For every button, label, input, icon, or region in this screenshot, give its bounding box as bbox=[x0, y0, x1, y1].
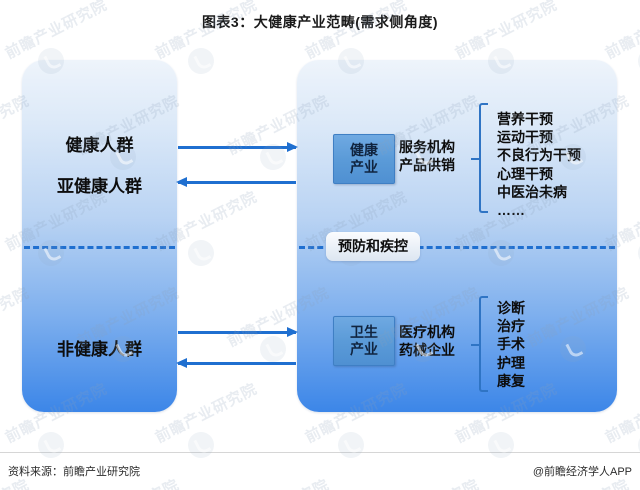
list-item: 康复 bbox=[497, 372, 525, 390]
list-item: 运动干预 bbox=[497, 128, 581, 146]
bracket-hygiene-items bbox=[471, 296, 489, 392]
arrow-left-bottom bbox=[178, 362, 296, 365]
arrow-left-top bbox=[178, 181, 296, 184]
hygiene-industry-descriptor: 医疗机构 药械企业 bbox=[399, 323, 455, 360]
watermark-logo-icon bbox=[256, 140, 291, 175]
footer-credit: @前瞻经济学人APP bbox=[533, 463, 632, 479]
group-label-healthy: 健康人群 bbox=[22, 131, 177, 156]
diagram-canvas: 图表3：大健康产业范畴(需求侧角度) 健康人群 亚健康人群 非健康人群 预防和疾… bbox=[0, 0, 640, 490]
hygiene-industry-box-line2: 产业 bbox=[337, 341, 391, 358]
watermark-logo-icon bbox=[184, 428, 219, 463]
watermark-text: 前瞻产业研究院 bbox=[223, 474, 332, 490]
hygiene-industry-box-line1: 卫生 bbox=[337, 324, 391, 341]
watermark-logo-icon bbox=[634, 236, 640, 271]
watermark-text: 前瞻产业研究院 bbox=[373, 474, 482, 490]
bracket-health-items bbox=[471, 103, 489, 213]
watermark-logo-icon bbox=[184, 44, 219, 79]
prevention-pill-label: 预防和疾控 bbox=[326, 232, 420, 261]
health-descriptor-line2: 产品供销 bbox=[399, 156, 455, 174]
health-industry-box-line2: 产业 bbox=[337, 159, 391, 176]
health-industry-box-line1: 健康 bbox=[337, 142, 391, 159]
watermark-logo-icon bbox=[484, 428, 519, 463]
list-item: 诊断 bbox=[497, 299, 525, 317]
bracket-health-bar bbox=[479, 103, 488, 213]
health-industry-box: 健康 产业 bbox=[333, 134, 395, 184]
footer-divider bbox=[0, 452, 640, 453]
list-item: 护理 bbox=[497, 354, 525, 372]
health-descriptor-line1: 服务机构 bbox=[399, 138, 455, 156]
watermark-logo-icon bbox=[634, 428, 640, 463]
list-item: 治疗 bbox=[497, 317, 525, 335]
arrow-right-bottom bbox=[178, 331, 296, 334]
watermark-logo-icon bbox=[184, 236, 219, 271]
list-item: …… bbox=[497, 201, 581, 219]
dashed-divider-left bbox=[24, 246, 175, 249]
list-item: 营养干预 bbox=[497, 110, 581, 128]
list-item: 中医治未病 bbox=[497, 183, 581, 201]
list-item: 心理干预 bbox=[497, 165, 581, 183]
list-item: 不良行为干预 bbox=[497, 146, 581, 164]
watermark-logo-icon bbox=[334, 428, 369, 463]
page-title: 图表3：大健康产业范畴(需求侧角度) bbox=[0, 12, 640, 32]
group-label-subhealthy: 亚健康人群 bbox=[22, 172, 177, 197]
footer-source: 资料来源：前瞻产业研究院 bbox=[8, 463, 140, 479]
arrow-right-top bbox=[178, 146, 296, 149]
bracket-hygiene-bar bbox=[479, 296, 488, 392]
watermark-logo-icon bbox=[34, 428, 69, 463]
health-industry-item-list: 营养干预 运动干预 不良行为干预 心理干预 中医治未病 …… bbox=[497, 110, 581, 219]
hygiene-industry-box: 卫生 产业 bbox=[333, 316, 395, 366]
hygiene-industry-item-list: 诊断 治疗 手术 护理 康复 bbox=[497, 299, 525, 390]
group-label-unhealthy: 非健康人群 bbox=[22, 335, 177, 360]
hygiene-descriptor-line1: 医疗机构 bbox=[399, 323, 455, 341]
health-industry-descriptor: 服务机构 产品供销 bbox=[399, 138, 455, 175]
hygiene-descriptor-line2: 药械企业 bbox=[399, 341, 455, 359]
list-item: 手术 bbox=[497, 335, 525, 353]
watermark-logo-icon bbox=[634, 44, 640, 79]
